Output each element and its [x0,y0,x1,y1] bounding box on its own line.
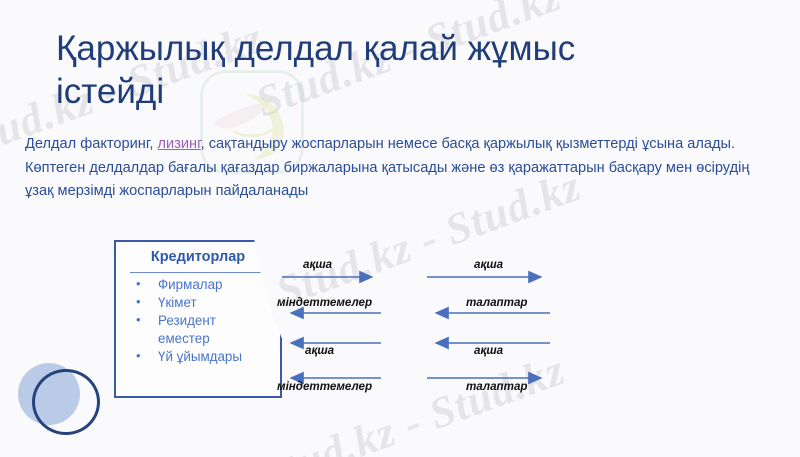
lizing-link[interactable]: лизинг [158,136,201,152]
body-paragraph: Делдал факторинг, лизинг, сақтандыру жос… [25,133,767,204]
arrow-label-left-3: ақша [305,344,334,357]
arrow-label-left-2: міндеттемелер [277,296,372,309]
page-title: Қаржылық делдал қалай жұмыс істейді [56,28,676,113]
paragraph-segment-1: Делдал факторинг, [25,136,158,152]
arrow-label-right-1: ақша [474,258,503,271]
arrow-label-left-4: міндеттемелер [277,380,372,393]
arrow-label-right-2: талаптар [466,296,527,309]
arrow-label-left-1: ақша [303,258,332,271]
arrow-label-right-3: ақша [474,344,503,357]
slide-canvas: Stud.kz - Stud.kz Stud.kz - Stud.kz Stud… [0,0,800,457]
arrow-label-right-4: талаптар [466,380,527,393]
